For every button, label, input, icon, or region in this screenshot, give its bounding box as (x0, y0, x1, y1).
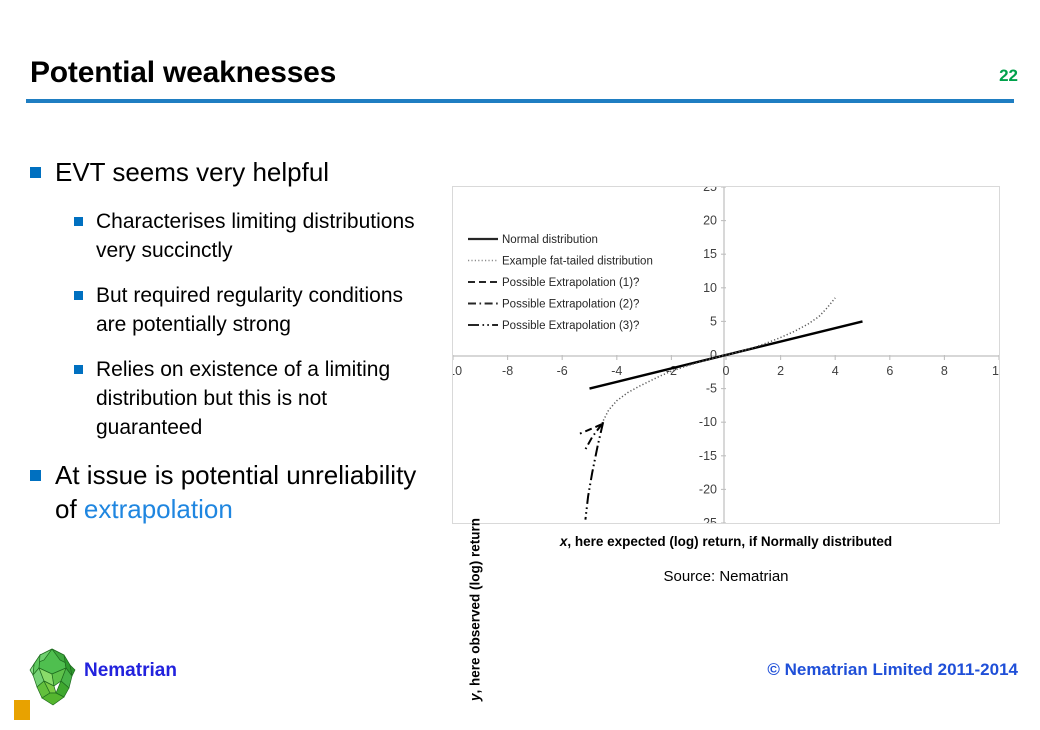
bullet-item-3: But required regularity conditions are p… (74, 281, 430, 339)
bullet-square-icon (74, 365, 83, 374)
y-tick-label: -15 (699, 449, 717, 463)
y-tick-label: 10 (703, 281, 717, 295)
x-tick-label: -10 (453, 364, 462, 378)
series-long-dash-dot-dot (585, 422, 603, 519)
legend-label: Possible Extrapolation (3)? (502, 320, 639, 332)
page-number: 22 (999, 66, 1018, 86)
bullet-square-icon (74, 291, 83, 300)
x-tick-label: -4 (611, 364, 622, 378)
x-axis-title-rest: , here expected (log) return, if Normall… (567, 534, 892, 549)
y-tick-label: -25 (699, 516, 717, 523)
legend-label: Possible Extrapolation (1)? (502, 277, 639, 289)
y-tick-label: 5 (710, 314, 717, 328)
bullet-text: Characterises limiting distributions ver… (96, 207, 430, 265)
bullet-square-icon (30, 470, 41, 481)
bullet-item-5: At issue is potential unreliability of e… (30, 458, 430, 526)
bullet-text: EVT seems very helpful (55, 155, 329, 189)
bullet-text: At issue is potential unreliability of e… (55, 458, 430, 526)
y-tick-label: -10 (699, 415, 717, 429)
chart-container: -10-8-6-4-20246810 2520151050-5-10-15-20… (452, 186, 1000, 524)
title-divider (26, 99, 1014, 103)
legend-label: Possible Extrapolation (2)? (502, 299, 639, 311)
chart-legend: Normal distributionExample fat-tailed di… (468, 234, 653, 332)
x-tick-label: 8 (941, 364, 948, 378)
x-axis-title: x, here expected (log) return, if Normal… (452, 534, 1000, 549)
y-tick-label: 15 (703, 247, 717, 261)
extrapolation-link[interactable]: extrapolation (84, 494, 233, 524)
bullet-square-icon (74, 217, 83, 226)
bullet-item-1: EVT seems very helpful (30, 155, 430, 189)
series-dotted (602, 298, 835, 424)
bullet-item-2: Characterises limiting distributions ver… (74, 207, 430, 265)
x-tick-label: -8 (502, 364, 513, 378)
series-dash-dot (584, 424, 602, 452)
chart-source: Source: Nematrian (452, 568, 1000, 585)
chart-svg: -10-8-6-4-20246810 2520151050-5-10-15-20… (453, 187, 999, 523)
corner-accent (14, 700, 30, 720)
bullet-square-icon (30, 167, 41, 178)
brand-name: Nematrian (84, 660, 177, 682)
x-tick-label: 10 (992, 364, 999, 378)
x-tick-label: 4 (832, 364, 839, 378)
x-tick-label: 2 (777, 364, 784, 378)
y-tick-label: 25 (703, 187, 717, 194)
bullet-item-4: Relies on existence of a limiting distri… (74, 355, 430, 442)
page-title: Potential weaknesses (30, 56, 336, 90)
y-axis-title: y, here observed (log) return (468, 490, 483, 730)
copyright-text: © Nematrian Limited 2011-2014 (767, 660, 1018, 680)
bullet-text: But required regularity conditions are p… (96, 281, 430, 339)
x-tick-label: -6 (557, 364, 568, 378)
y-tick-label: -5 (706, 382, 717, 396)
bullet-text: Relies on existence of a limiting distri… (96, 355, 430, 442)
x-tick-label: 0 (723, 364, 730, 378)
x-tick-label: 6 (886, 364, 893, 378)
legend-label: Normal distribution (502, 234, 598, 246)
x-tick-label: -2 (666, 364, 677, 378)
y-axis-title-var: y (468, 694, 483, 702)
polyhedron-logo (26, 646, 78, 708)
y-tick-label: -20 (699, 482, 717, 496)
y-tick-label: 20 (703, 214, 717, 228)
sub-bullet-group: Characterises limiting distributions ver… (30, 207, 430, 442)
legend-label: Example fat-tailed distribution (502, 256, 653, 268)
slide: Potential weaknesses 22 EVT seems very h… (0, 0, 1040, 720)
y-axis-title-wrap: y, here observed (log) return (425, 250, 445, 470)
bullet-list: EVT seems very helpful Characterises lim… (30, 155, 430, 544)
x-axis-ticks: -10-8-6-4-20246810 (453, 355, 999, 378)
